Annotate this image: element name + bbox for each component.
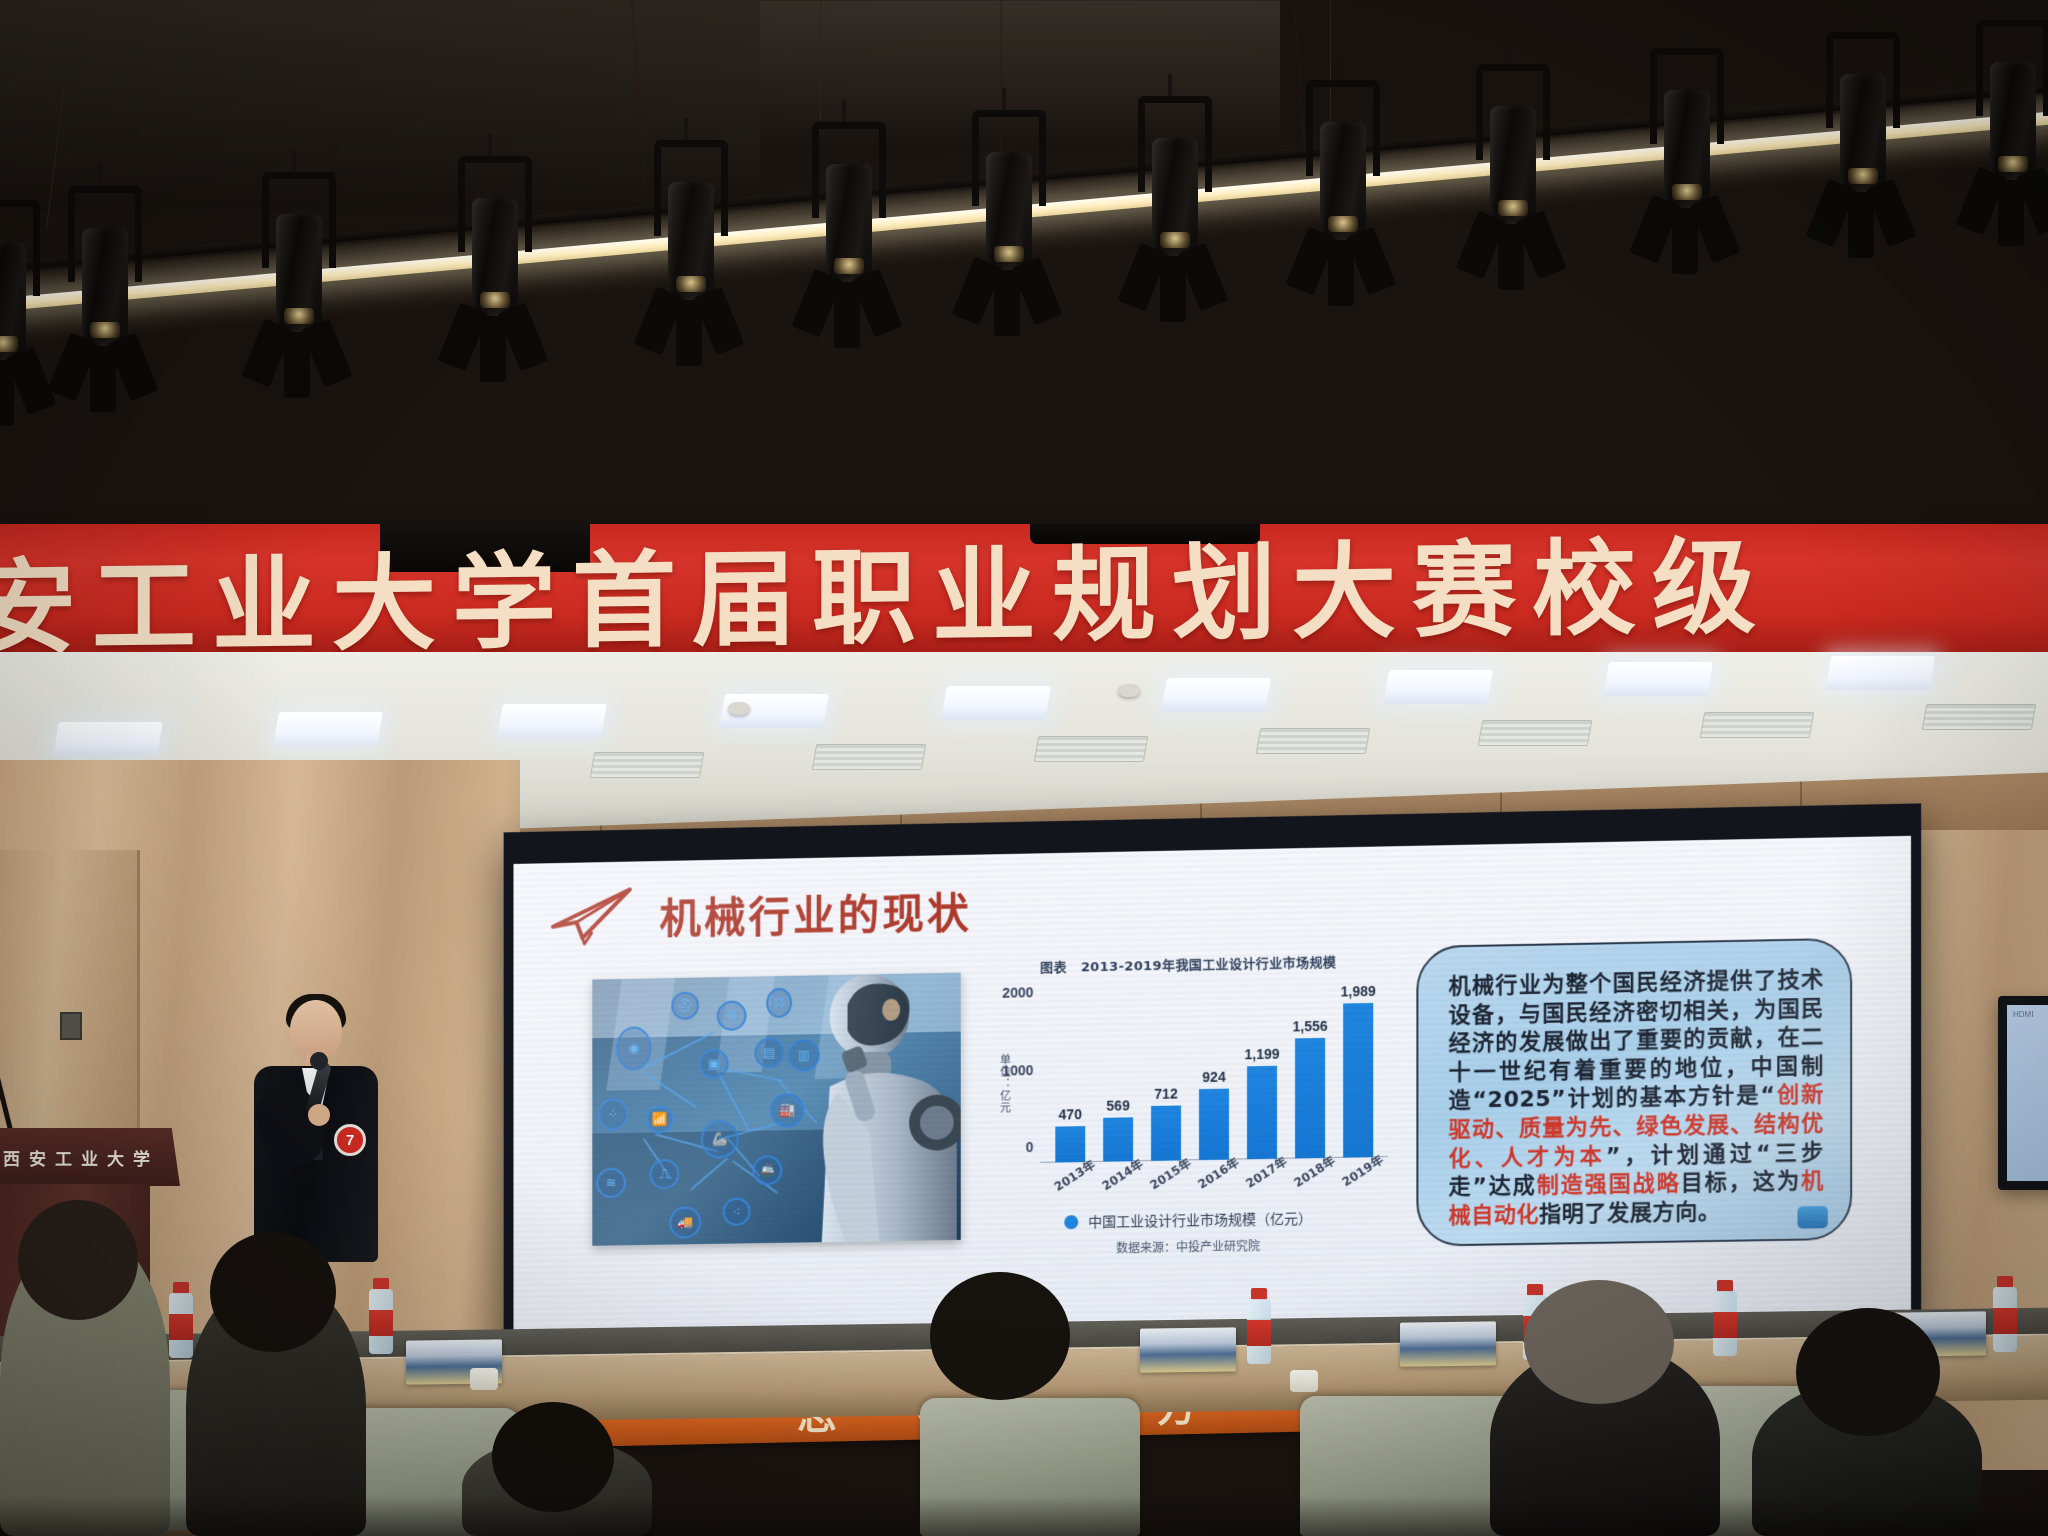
lectern-character: 大 [107,1145,125,1170]
chart-bars: 4705697129241,1991,5561,989 [1040,987,1388,1163]
chart-bar [1247,1066,1277,1159]
chart-title-label: 图表 [1040,961,1067,976]
humanoid-robot-icon [788,973,961,1243]
delegate-nameplate [1140,1327,1236,1372]
monitor-label: HDMI [2013,1010,2033,1019]
ceiling-panel-light [1383,670,1493,704]
audience-head [1796,1308,1940,1436]
stage-spotlight [256,172,342,382]
stage-spotlight [648,140,734,350]
paper-cup [470,1368,498,1390]
ceiling-air-vent [1478,720,1593,746]
chart-bar-group: 1,556 [1293,988,1327,1159]
lectern-character: 工 [55,1145,73,1170]
chart-bar-group: 470 [1053,992,1087,1162]
callout-handle-icon [1797,1206,1827,1229]
legend-label: 中国工业设计行业市场规模（亿元） [1088,1208,1312,1232]
water-bottle [1246,1288,1272,1364]
stage-spotlight [1820,32,1906,242]
ceiling-panel-light [1161,678,1271,712]
lectern-character: 安 [29,1145,47,1170]
event-banner-text: 安工业大学首届职业规划大赛校级 [0,524,1772,652]
chart-y-tick: 2000 [1002,984,1033,1001]
chart-y-tick: 0 [1026,1139,1034,1155]
hanging-wire [820,0,821,120]
side-display-monitor[interactable]: HDMI [1998,996,2048,1190]
chart-bar-group: 569 [1101,991,1135,1161]
presentation-slide: 机械行业的现状 ⛑ ⚙ [513,836,1911,1378]
lectern-character: 业 [81,1145,99,1170]
chart-title-text: 2013-2019年我国工业设计行业市场规模 [1081,956,1336,976]
foreground-shadow [0,1496,2048,1536]
stage-spotlight [452,156,538,366]
lectern-character: 西 [3,1145,21,1170]
ceiling-air-vent [590,752,705,778]
highlighted-phrase: 制造强国战略 [1537,1171,1681,1198]
paper-cup [1290,1370,1318,1392]
chart-bar-value: 1,556 [1293,1018,1328,1035]
industry-description-callout: 机械行业为整个国民经济提供了技术设备，与国民经济密切相关，为国民经济的发展做出了… [1416,938,1852,1247]
chart-bar-value: 1,199 [1244,1046,1279,1063]
audience-head [1524,1280,1674,1404]
market-size-bar-chart: 图表2013-2019年我国工业设计行业市场规模 单位：亿元 0 1000 20… [979,950,1399,1257]
chart-plot-area: 0 1000 2000 4705697129241,1991,5561,989 [1040,987,1388,1163]
stage-spotlight [1644,48,1730,258]
chart-source-note: 数据来源：中投产业研究院 [979,1235,1399,1259]
presenter-hand [308,1104,330,1126]
chart-bar-value: 924 [1202,1068,1225,1084]
paper-plane-icon [549,885,636,948]
water-bottle [368,1278,394,1354]
chart-bar-value: 569 [1106,1097,1129,1113]
ceiling-air-vent [812,744,927,770]
body-phrase: 指明了发展方向。 [1539,1199,1721,1227]
stage-spotlight [62,186,148,396]
ceiling-air-vent [1922,704,2037,730]
audience-head [930,1272,1070,1400]
chart-y-tick: 1000 [1002,1062,1033,1079]
audience-head [18,1200,138,1320]
water-bottle [1992,1276,2018,1352]
chart-bar-group: 1,989 [1341,987,1375,1158]
body-phrase: 目标，这为 [1681,1169,1801,1196]
ceiling-panel-light [1825,656,1935,690]
chart-bar-group: 1,199 [1245,989,1279,1160]
smoke-detector-icon [728,702,750,715]
stage-spotlight [0,200,46,410]
wall-sign-icon [60,1012,82,1040]
led-screen: 机械行业的现状 ⛑ ⚙ [504,803,1922,1388]
slide-title-row: 机械行业的现状 [549,879,972,949]
chart-bar [1295,1038,1325,1159]
water-bottle [168,1282,194,1358]
stage-spotlight [1470,64,1556,274]
chart-bar-group: 924 [1197,990,1231,1161]
chart-title: 图表2013-2019年我国工业设计行业市场规模 [979,950,1399,977]
lectern-character: 学 [133,1145,151,1170]
delegate-nameplate [1400,1321,1496,1366]
audience-head [210,1232,336,1352]
auditorium-photo: 安工业大学首届职业规划大赛校级 [0,0,2048,1536]
ceiling-air-vent [1256,728,1371,754]
stage-spotlight [1132,96,1218,306]
water-bottle [1712,1280,1738,1356]
ceiling-panel-light [273,712,383,746]
ceiling-panel-light [1603,662,1713,696]
event-banner: 安工业大学首届职业规划大赛校级 [0,524,2048,652]
smoke-detector-icon [1118,684,1140,697]
chart-bar [1343,1003,1373,1157]
chart-bar [1103,1117,1133,1161]
lectern-nameplate: 西安工业大学 [0,1128,180,1186]
chart-bar-value: 712 [1154,1086,1177,1102]
chart-bar [1055,1126,1085,1163]
chart-bar [1199,1088,1229,1160]
legend-color-dot [1064,1215,1078,1229]
contestant-number-badge: 7 [334,1124,366,1156]
industry-description-text: 机械行业为整个国民经济提供了技术设备，与国民经济密切相关，为国民经济的发展做出了… [1449,966,1824,1231]
ceiling-air-vent [1034,736,1149,762]
ceiling-air-vent [1700,712,1815,738]
ceiling-panel-light [53,722,163,756]
stage-spotlight [1300,80,1386,290]
stage-spotlight [966,110,1052,320]
body-phrase: 机械行业为整个国民经济提供了技术设备，与国民经济密切相关，为国民经济的发展做出了… [1449,967,1824,1114]
chart-bar-value: 470 [1059,1106,1082,1122]
chart-bar [1151,1105,1181,1161]
chart-bar-value: 1,989 [1341,983,1376,1000]
stage-spotlight [806,122,892,332]
industrial-robot-photo: ⛑ ⚙ ⚖ ◉ ▣ ▤ ▥ ⁘ 📶 🦾 🏭 🚢 ⎍ ≋ 🚚 ⁖ [592,973,960,1246]
slide-title: 机械行业的现状 [659,879,971,946]
ceiling-panel-light [497,704,607,738]
chart-bar-group: 712 [1149,990,1183,1161]
stage-spotlight [1970,20,2048,230]
ceiling-panel-light [941,686,1051,720]
